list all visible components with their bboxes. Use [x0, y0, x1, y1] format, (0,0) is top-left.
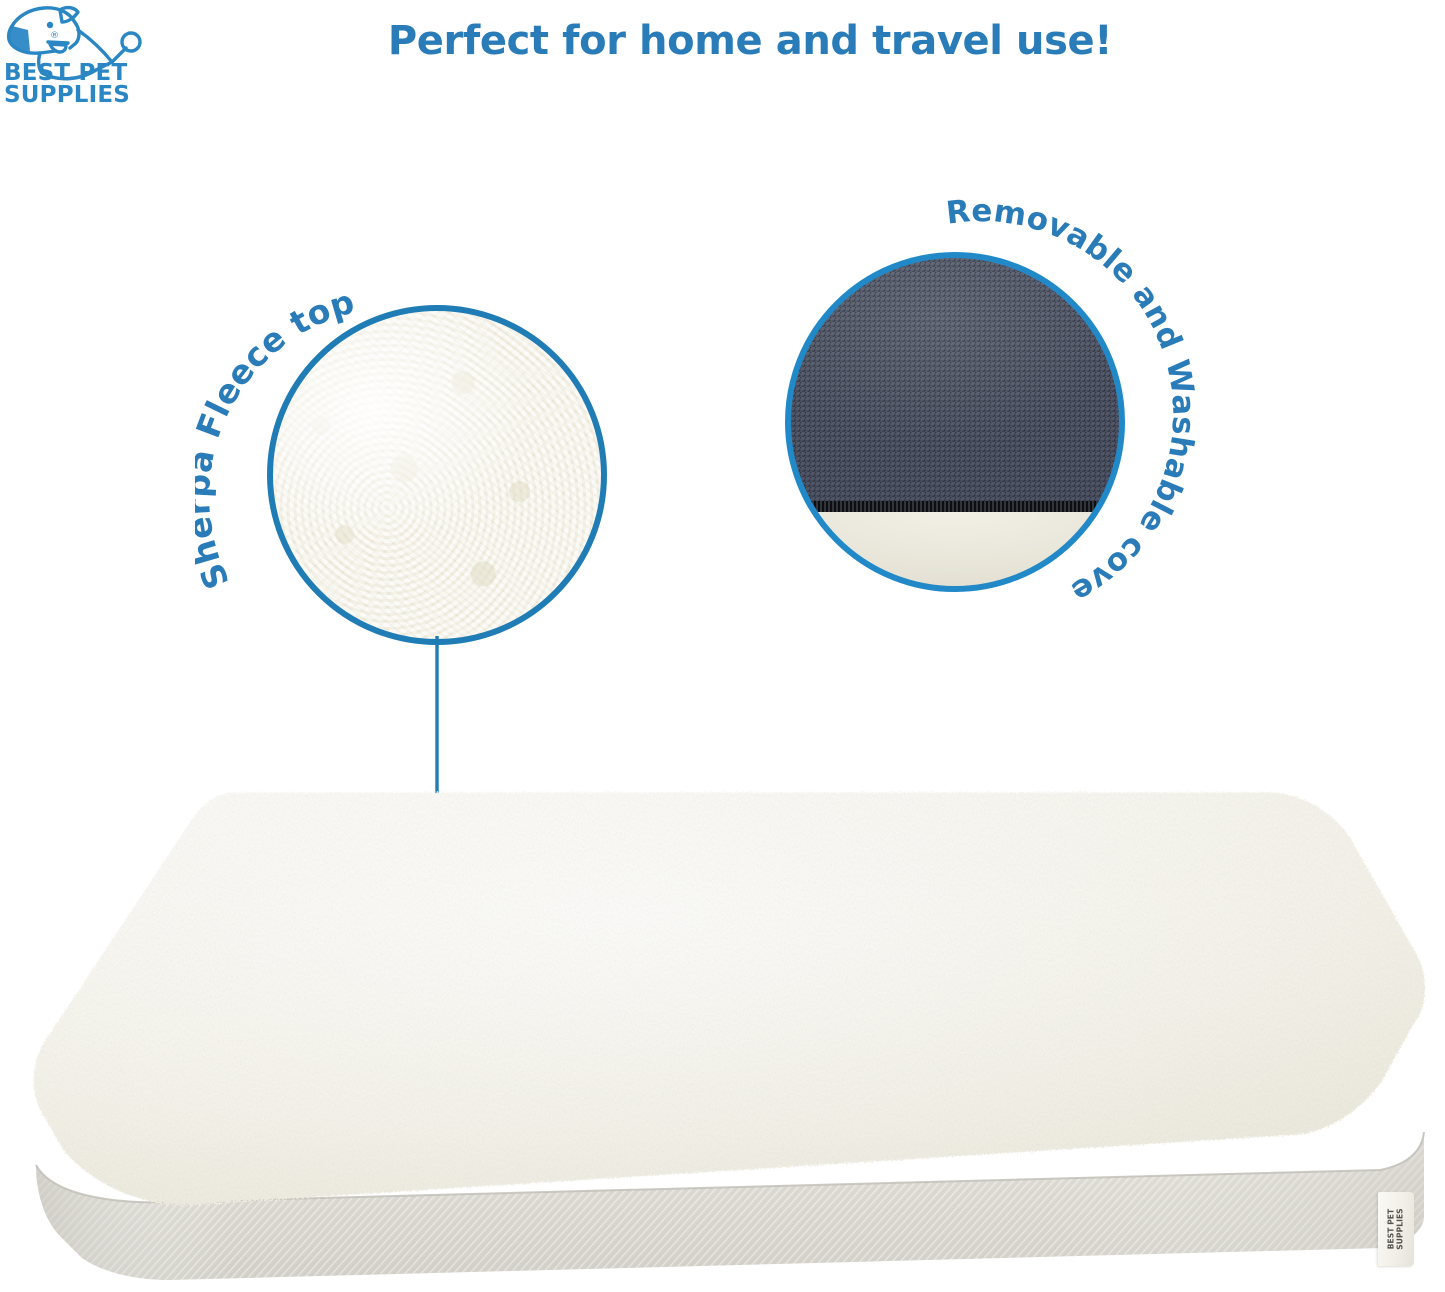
registered-mark: ®: [50, 31, 59, 41]
bed-fleece-grain: [30, 780, 1430, 1210]
bed-top-surface: [30, 780, 1430, 1210]
callout-removable-washable-cover: [785, 252, 1125, 592]
product-fabric-tag: BEST PET SUPPLIES: [1378, 1192, 1414, 1266]
swatch-sherpa-fleece: [272, 310, 602, 640]
cover-base-fabric: [790, 512, 1120, 587]
callout-sherpa-fleece-top: [267, 305, 607, 645]
brand-logo: ® BEST PET SUPPLIES: [0, 0, 160, 130]
headline-text: Perfect for home and travel use!: [200, 18, 1300, 64]
product-dog-bed: [30, 780, 1430, 1292]
zipper: [790, 501, 1120, 512]
brand-wordmark: BEST PET SUPPLIES: [4, 62, 154, 106]
product-tag-text: BEST PET SUPPLIES: [1387, 1208, 1404, 1249]
mesh-fabric: [790, 257, 1120, 501]
product-infographic: ® BEST PET SUPPLIES Perfect for home and…: [0, 0, 1445, 1292]
swatch-mesh-cover: [790, 257, 1120, 587]
